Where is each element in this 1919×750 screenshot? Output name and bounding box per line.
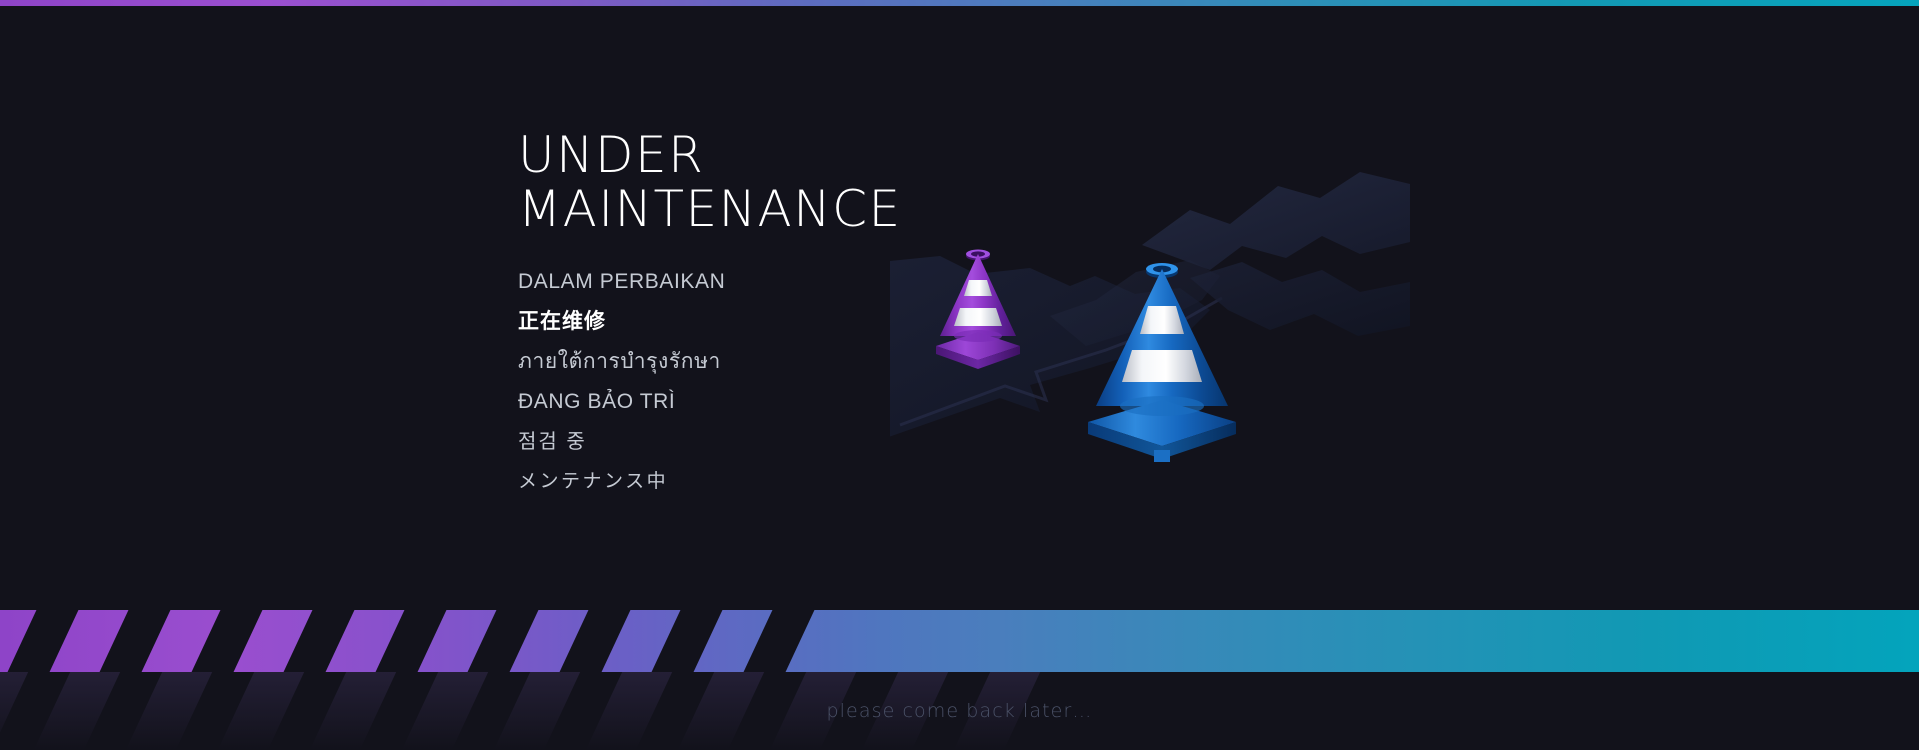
caution-stripe-gap [370, 610, 452, 672]
caution-band-stripes [0, 610, 1919, 672]
footer: please come back later… [0, 700, 1919, 722]
caution-stripe-gap [554, 610, 636, 672]
caution-stripe-gap [94, 610, 176, 672]
hero-section: UNDER MAINTENANCE DALAM PERBAIKAN 正在维修 ภ… [0, 0, 1919, 610]
footer-message: please come back later… [827, 700, 1093, 722]
maintenance-page: UNDER MAINTENANCE DALAM PERBAIKAN 正在维修 ภ… [0, 0, 1919, 750]
caution-stripe-gap [186, 610, 268, 672]
maintenance-artwork [890, 150, 1410, 550]
caution-stripe-gap [278, 610, 360, 672]
caution-stripe-gap [646, 610, 728, 672]
caution-band [0, 610, 1919, 672]
caution-stripe-gap [2, 610, 84, 672]
caution-stripe-gap [738, 610, 820, 672]
caution-stripe-gap [462, 610, 544, 672]
